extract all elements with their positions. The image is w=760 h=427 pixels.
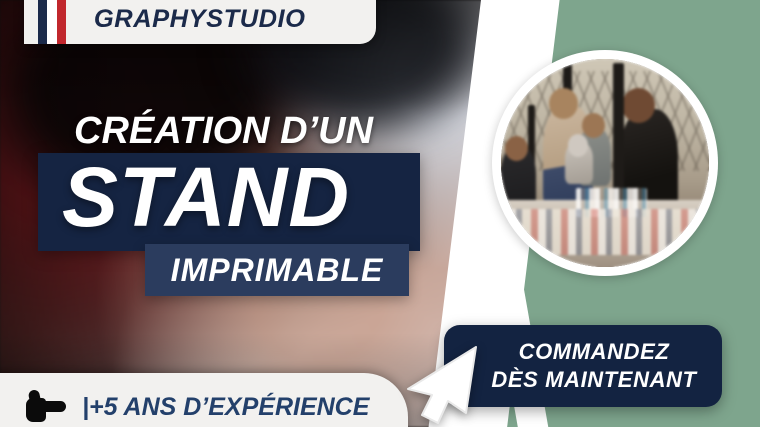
circle-photo — [501, 59, 709, 267]
pointing-hand-icon — [24, 390, 70, 424]
circle-photo-frame — [492, 50, 718, 276]
headline-main: STAND — [62, 155, 350, 239]
flag-stripe-blue — [38, 0, 47, 44]
french-flag-icon — [38, 0, 66, 44]
cursor-arrow-icon — [398, 343, 490, 427]
brand-name: GRAPHYSTUDIO — [94, 5, 306, 34]
headline-sub: IMPRIMABLE — [171, 252, 384, 289]
flag-stripe-white — [47, 0, 56, 44]
photo-softening-layer — [501, 59, 709, 267]
promo-banner: GRAPHYSTUDIO CRÉATION D’UN STAND IMPRIMA… — [0, 0, 760, 427]
cta-line-1: COMMANDEZ — [497, 339, 670, 365]
experience-bar: |+5 ANS D’EXPÉRIENCE — [0, 373, 408, 427]
headline-kicker: CRÉATION D’UN — [74, 110, 373, 153]
cta-line-2: DÈS MAINTENANT — [469, 367, 696, 393]
headline-sub-box: IMPRIMABLE — [145, 244, 409, 296]
experience-text: |+5 ANS D’EXPÉRIENCE — [82, 393, 369, 422]
flag-stripe-red — [57, 0, 66, 44]
hand-finger — [42, 401, 66, 412]
brand-header-bar: GRAPHYSTUDIO — [24, 0, 376, 44]
